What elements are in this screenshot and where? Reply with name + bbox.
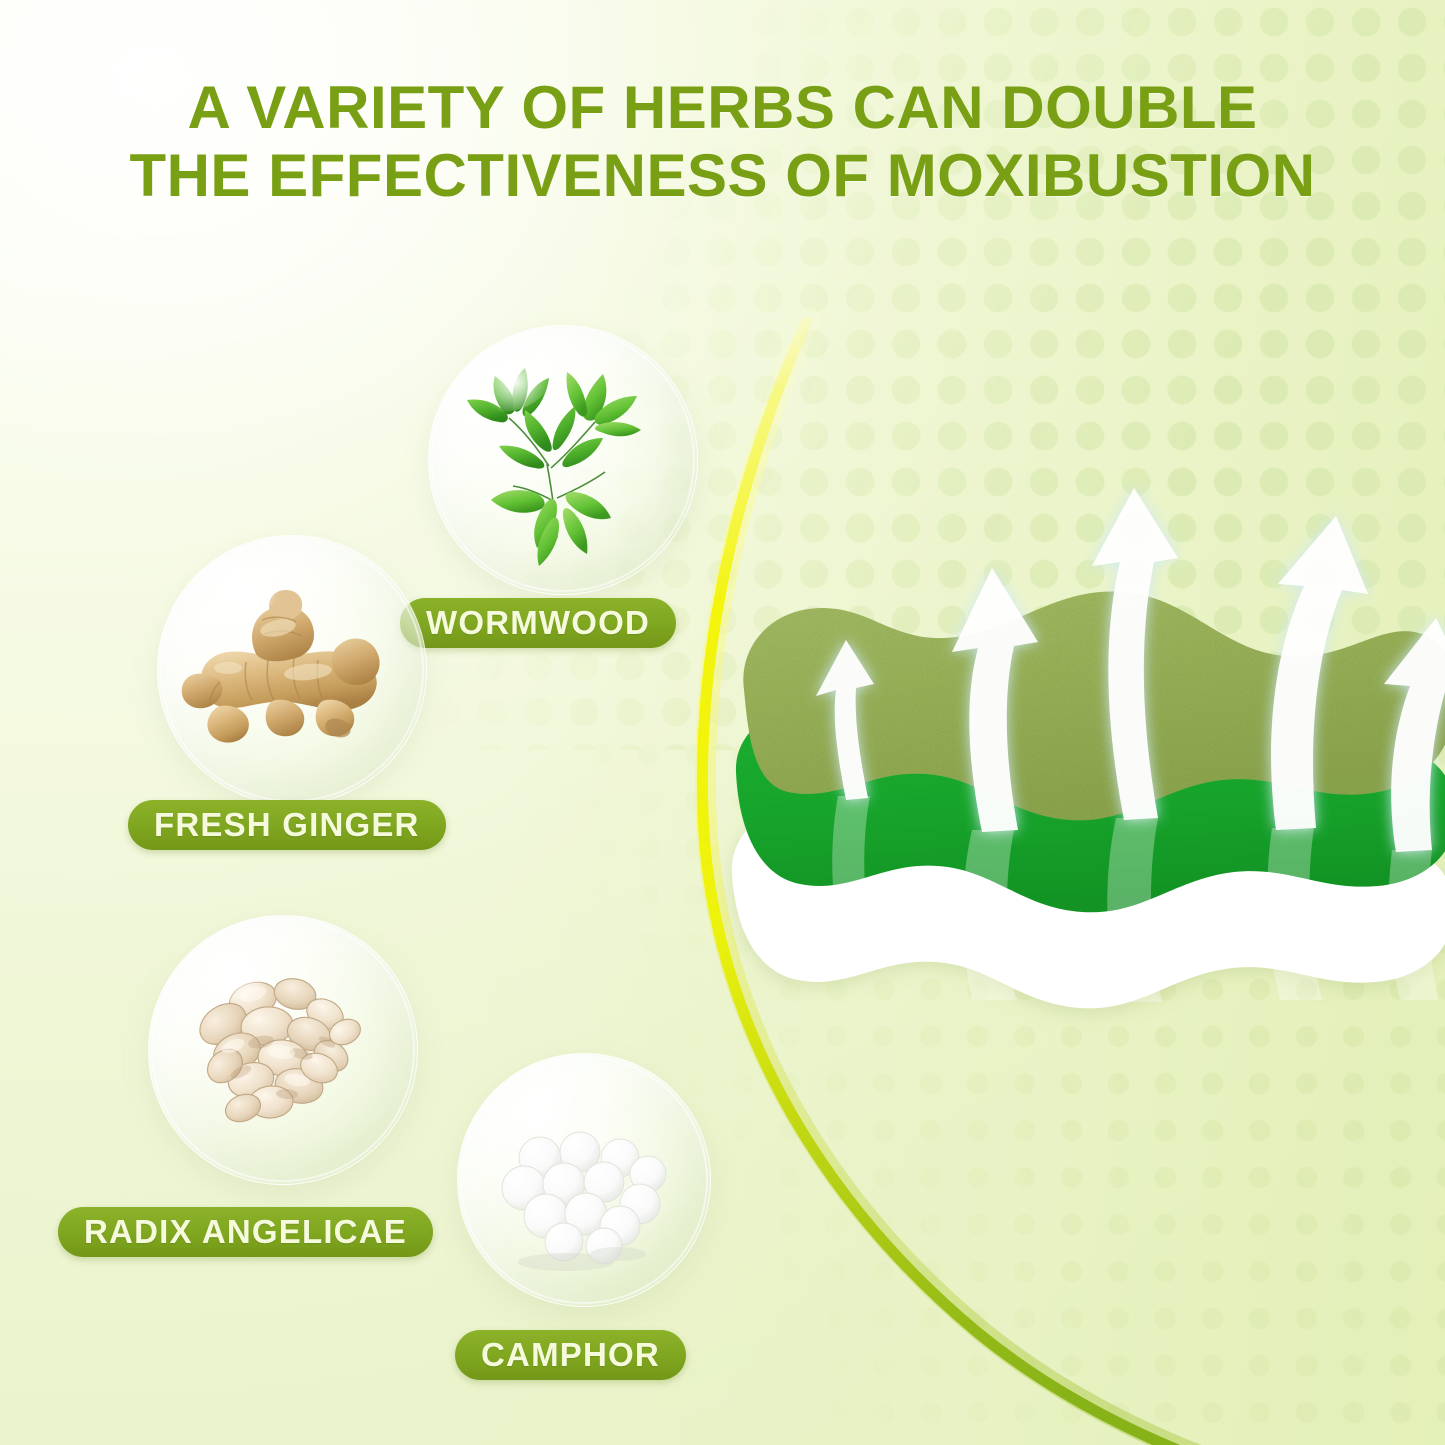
ingredient-bubble-camphor xyxy=(457,1053,711,1307)
ingredient-label-camphor[interactable]: CAMPHOR xyxy=(455,1330,686,1380)
page-title-line1: A VARIETY OF HERBS CAN DOUBLE xyxy=(187,74,1257,141)
ingredient-bubble-radix-angelicae xyxy=(148,915,418,1185)
page-title: A VARIETY OF HERBS CAN DOUBLE THE EFFECT… xyxy=(0,74,1445,210)
ingredient-bubble-wormwood xyxy=(428,325,698,595)
wormwood-leaf-icon xyxy=(429,326,697,594)
ingredient-label-fresh-ginger[interactable]: FRESH GINGER xyxy=(128,800,446,850)
ingredient-bubble-fresh-ginger xyxy=(157,535,427,805)
ginger-root-icon xyxy=(158,536,426,804)
ingredient-label-text: CAMPHOR xyxy=(481,1336,660,1374)
ingredient-label-text: FRESH GINGER xyxy=(154,806,420,844)
infographic-poster: A VARIETY OF HERBS CAN DOUBLE THE EFFECT… xyxy=(0,0,1445,1445)
ingredient-label-wormwood[interactable]: WORMWOOD xyxy=(400,598,676,648)
angelica-root-slices-icon xyxy=(149,916,417,1184)
ingredient-label-text: RADIX ANGELICAE xyxy=(84,1213,407,1251)
page-title-line2: THE EFFECTIVENESS OF MOXIBUSTION xyxy=(40,142,1405,210)
camphor-pellets-icon xyxy=(458,1054,710,1306)
ingredient-label-text: WORMWOOD xyxy=(426,604,650,642)
moxibustion-patch-layers xyxy=(720,500,1445,1120)
ingredient-label-radix-angelicae[interactable]: RADIX ANGELICAE xyxy=(58,1207,433,1257)
